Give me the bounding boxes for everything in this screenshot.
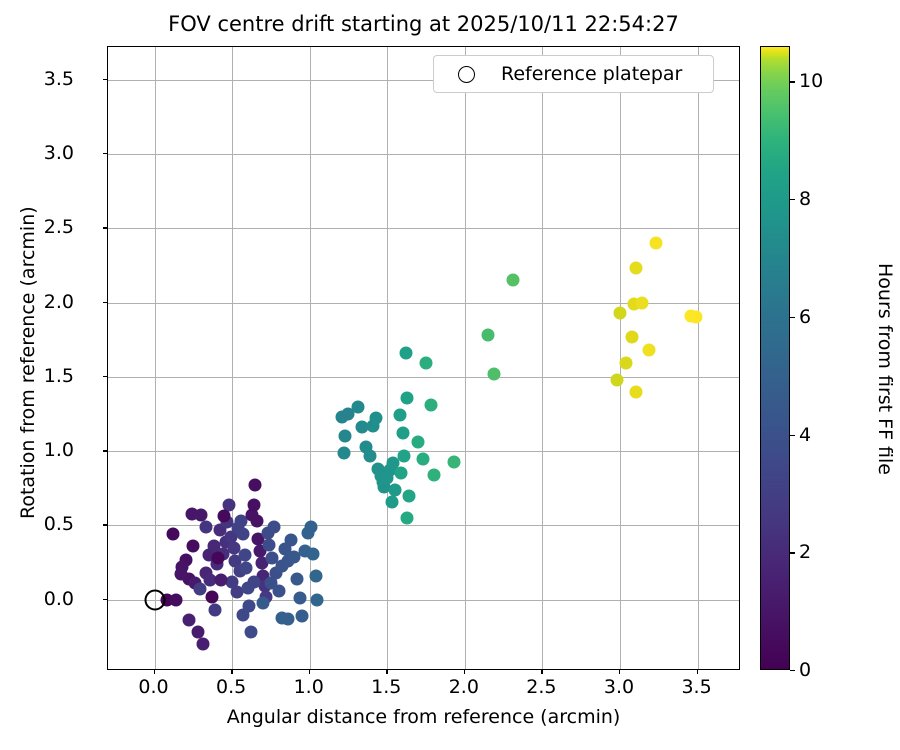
scatter-point: [247, 575, 260, 588]
gridline-vertical: [542, 47, 543, 669]
x-tick-label: 0.0: [138, 676, 168, 698]
y-tick-label: 2.5: [44, 216, 74, 238]
scatter-point: [685, 309, 698, 322]
colorbar-tick-label: 8: [799, 188, 811, 210]
scatter-point: [395, 467, 408, 480]
gridline-vertical: [155, 47, 156, 669]
scatter-point: [416, 452, 429, 465]
scatter-point: [620, 357, 633, 370]
y-tick: [103, 524, 107, 525]
scatter-point: [370, 412, 383, 425]
scatter-point: [236, 528, 249, 541]
colorbar-label: Hours from first FF file: [874, 219, 896, 519]
x-tick: [464, 670, 465, 674]
colorbar-tick: [790, 81, 795, 82]
scatter-point: [238, 549, 251, 562]
figure: FOV centre drift starting at 2025/10/11 …: [0, 0, 900, 750]
scatter-point: [635, 296, 648, 309]
scatter-point: [187, 540, 200, 553]
scatter-point: [218, 510, 231, 523]
y-tick-label: 3.0: [44, 142, 74, 164]
scatter-point: [306, 547, 319, 560]
scatter-point: [249, 479, 262, 492]
scatter-point: [610, 373, 623, 386]
colorbar-tick: [790, 552, 795, 553]
y-tick-label: 1.5: [44, 365, 74, 387]
x-tick: [154, 670, 155, 674]
colorbar-tick-label: 4: [799, 424, 811, 446]
x-tick-label: 0.5: [216, 676, 246, 698]
scatter-point: [212, 552, 225, 565]
page-title: FOV centre drift starting at 2025/10/11 …: [107, 12, 740, 36]
gridline-horizontal: [108, 154, 739, 155]
scatter-point: [364, 449, 377, 462]
scatter-point: [613, 306, 626, 319]
y-tick: [103, 376, 107, 377]
scatter-point: [396, 427, 409, 440]
scatter-point: [167, 528, 180, 541]
scatter-point: [170, 593, 183, 606]
colorbar-tick-label: 10: [799, 70, 823, 92]
y-tick: [103, 227, 107, 228]
x-tick: [619, 670, 620, 674]
scatter-point: [272, 584, 285, 597]
x-tick-label: 3.0: [604, 676, 634, 698]
scatter-point: [629, 385, 642, 398]
y-tick: [103, 302, 107, 303]
x-axis-label: Angular distance from reference (arcmin): [107, 706, 740, 728]
scatter-point: [236, 608, 249, 621]
scatter-point: [649, 237, 662, 250]
scatter-point: [488, 367, 501, 380]
scatter-point: [209, 604, 222, 617]
x-tick: [231, 670, 232, 674]
gridline-horizontal: [108, 228, 739, 229]
scatter-point: [263, 538, 276, 551]
scatter-point: [196, 638, 209, 651]
scatter-point: [339, 430, 352, 443]
x-tick-label: 3.5: [681, 676, 711, 698]
scatter-point: [629, 262, 642, 275]
scatter-point: [393, 409, 406, 422]
gridline-vertical: [387, 47, 388, 669]
scatter-point: [268, 520, 281, 533]
legend-item-label: Reference platepar: [501, 63, 682, 85]
scatter-point: [309, 569, 322, 582]
colorbar-tick: [790, 435, 795, 436]
scatter-point: [311, 593, 324, 606]
scatter-point: [626, 330, 639, 343]
scatter-point: [420, 357, 433, 370]
scatter-point: [401, 391, 414, 404]
scatter-point: [506, 274, 519, 287]
legend-open-circle-icon: [458, 66, 475, 83]
reference-platepar-marker: [144, 589, 165, 610]
legend: Reference platepar: [433, 55, 714, 93]
colorbar-tick-label: 0: [799, 659, 811, 681]
scatter-point: [199, 520, 212, 533]
scatter-point: [257, 596, 270, 609]
colorbar-tick: [790, 199, 795, 200]
x-tick: [697, 670, 698, 674]
colorbar-tick: [790, 670, 795, 671]
scatter-point: [482, 329, 495, 342]
gridline-vertical: [698, 47, 699, 669]
x-tick-label: 2.5: [526, 676, 556, 698]
plot-area: [107, 46, 740, 670]
scatter-point: [427, 468, 440, 481]
scatter-point: [275, 611, 288, 624]
scatter-point: [412, 436, 425, 449]
x-tick-label: 1.0: [294, 676, 324, 698]
scatter-point: [247, 498, 260, 511]
scatter-point: [294, 592, 307, 605]
x-tick-label: 2.0: [449, 676, 479, 698]
scatter-point: [447, 455, 460, 468]
y-tick-label: 3.5: [44, 68, 74, 90]
scatter-point: [174, 568, 187, 581]
scatter-point: [401, 511, 414, 524]
x-tick: [386, 670, 387, 674]
colorbar-tick: [790, 317, 795, 318]
gridline-horizontal: [108, 600, 739, 601]
scatter-point: [398, 449, 411, 462]
colorbar-tick-label: 6: [799, 306, 811, 328]
scatter-point: [205, 590, 218, 603]
gridline-horizontal: [108, 377, 739, 378]
colorbar-tick-label: 2: [799, 541, 811, 563]
y-tick: [103, 153, 107, 154]
scatter-point: [295, 610, 308, 623]
scatter-point: [285, 534, 298, 547]
scatter-point: [305, 520, 318, 533]
x-tick: [541, 670, 542, 674]
scatter-point: [182, 614, 195, 627]
scatter-point: [244, 626, 257, 639]
x-tick: [309, 670, 310, 674]
scatter-point: [337, 446, 350, 459]
scatter-point: [385, 495, 398, 508]
x-tick-label: 1.5: [371, 676, 401, 698]
y-tick-label: 0.5: [44, 513, 74, 535]
y-tick: [103, 599, 107, 600]
scatter-point: [240, 562, 253, 575]
y-tick-label: 1.0: [44, 439, 74, 461]
gridline-vertical: [465, 47, 466, 669]
y-axis-label: Rotation from reference (arcmin): [17, 219, 39, 519]
scatter-point: [402, 489, 415, 502]
colorbar: [760, 46, 790, 670]
scatter-point: [291, 572, 304, 585]
scatter-point: [424, 399, 437, 412]
y-tick: [103, 450, 107, 451]
scatter-point: [399, 347, 412, 360]
y-tick-label: 0.0: [44, 588, 74, 610]
scatter-point: [250, 514, 263, 527]
scatter-point: [215, 574, 228, 587]
scatter-point: [193, 583, 206, 596]
scatter-point: [643, 344, 656, 357]
y-tick-label: 2.0: [44, 291, 74, 313]
scatter-point: [351, 400, 364, 413]
y-tick: [103, 79, 107, 80]
